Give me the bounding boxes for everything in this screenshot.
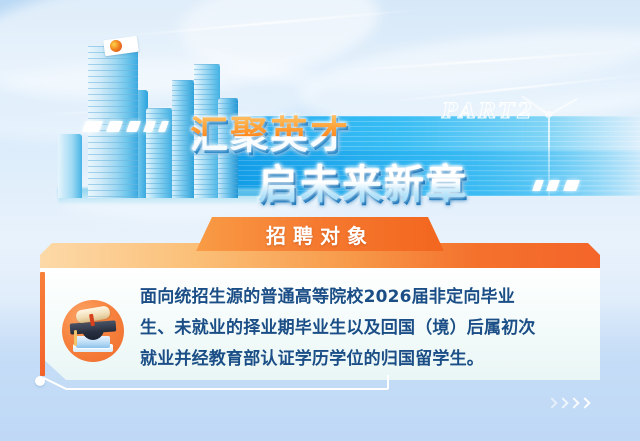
recruitment-poster: 汇聚英才 启未来新章 PART2 招聘对象 面向统招生源的普通高等院校2026届… (0, 0, 640, 441)
headline-group: 汇聚英才 启未来新章 PART2 (0, 0, 640, 220)
chevron-right-icon (548, 398, 557, 411)
part-label: PART2 (442, 98, 535, 123)
chevron-right-icon (570, 398, 579, 411)
card-left-accent-bar (40, 272, 45, 376)
card-body-text: 面向统招生源的普通高等院校2026届非定向毕业生、未就业的择业期毕业生以及回国（… (140, 282, 544, 375)
headline-line-2: 启未来新章 (258, 152, 468, 210)
card-underline-tick (387, 375, 389, 389)
forward-chevrons-icon (548, 398, 590, 411)
card-underline-flat (66, 388, 388, 390)
headline-line-1: 汇聚英才 (190, 104, 350, 159)
chevron-right-icon (559, 398, 568, 411)
graduation-cap-diploma-book-icon (62, 300, 124, 362)
section-banner-title: 招聘对象 (196, 219, 444, 249)
cap-tassel-icon (74, 330, 77, 346)
chevron-right-icon (581, 398, 590, 411)
